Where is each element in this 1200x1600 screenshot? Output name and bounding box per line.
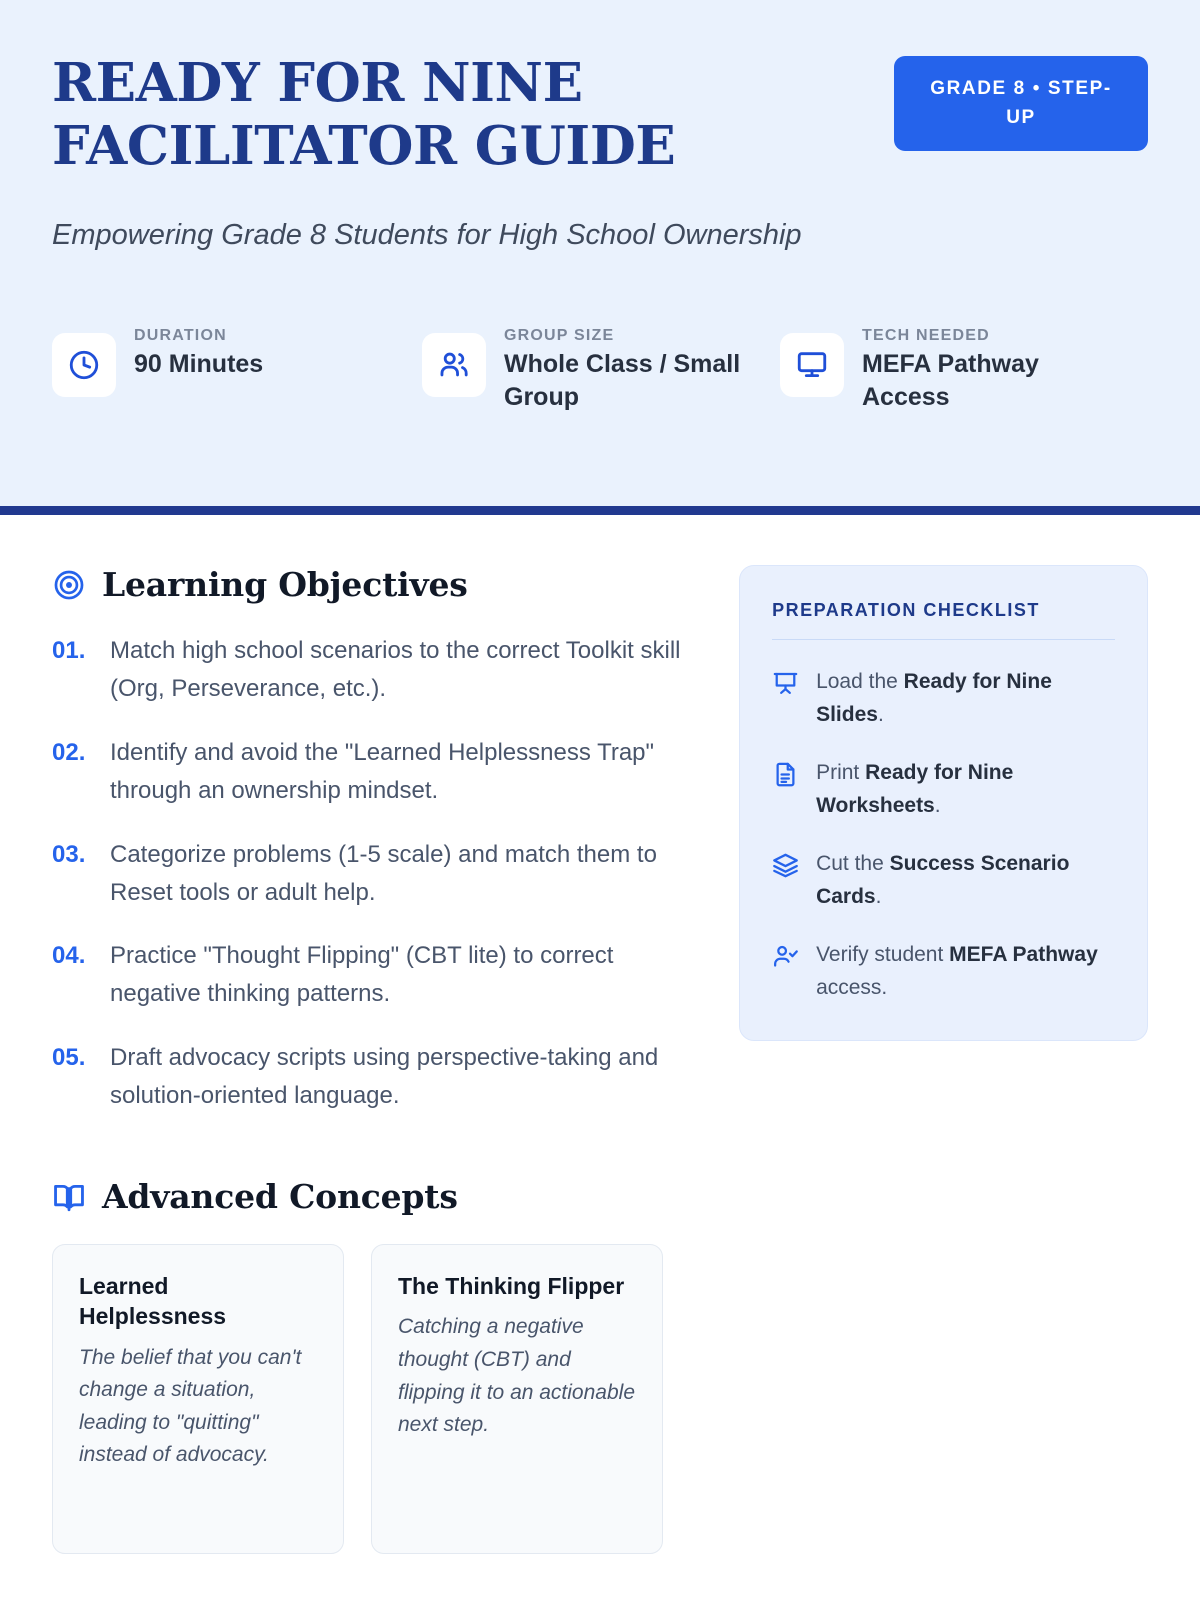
list-item: 05. Draft advocacy scripts using perspec… <box>52 1039 707 1115</box>
meta-label: TECH NEEDED <box>862 327 1110 345</box>
list-item: 02. Identify and avoid the "Learned Help… <box>52 734 707 810</box>
checklist-item-text: Load the Ready for Nine Slides. <box>816 666 1115 731</box>
page-subtitle: Empowering Grade 8 Students for High Sch… <box>52 213 812 257</box>
meta-row: DURATION 90 Minutes GROUP SIZE Whole Cla… <box>52 319 1148 413</box>
learning-objectives-header: Learning Objectives <box>52 565 707 604</box>
page-body: Learning Objectives 01. Match high schoo… <box>0 515 1200 1554</box>
checklist-item-text: Cut the Success Scenario Cards. <box>816 848 1115 913</box>
advanced-concepts-section: Advanced Concepts Learned Helplessness T… <box>52 1177 707 1554</box>
objective-number: 02. <box>52 734 96 810</box>
objectives-list: 01. Match high school scenarios to the c… <box>52 632 707 1115</box>
objective-text: Practice "Thought Flipping" (CBT lite) t… <box>110 937 707 1013</box>
checklist-item-text: Print Ready for Nine Worksheets. <box>816 757 1115 822</box>
layers-icon <box>772 852 800 879</box>
objective-number: 01. <box>52 632 96 708</box>
header-top-row: READY FOR NINE FACILITATOR GUIDE GRADE 8… <box>52 52 1148 177</box>
concept-card: Learned Helplessness The belief that you… <box>52 1244 344 1554</box>
page-header: READY FOR NINE FACILITATOR GUIDE GRADE 8… <box>0 0 1200 515</box>
section-title: Advanced Concepts <box>102 1177 458 1216</box>
advanced-concepts-header: Advanced Concepts <box>52 1177 707 1216</box>
meta-label: GROUP SIZE <box>504 327 780 345</box>
meta-value: MEFA Pathway Access <box>862 348 1110 413</box>
target-icon <box>52 568 86 602</box>
presentation-icon <box>772 670 800 697</box>
grade-level-badge: GRADE 8 • STEP-UP <box>894 56 1148 151</box>
list-item: Load the Ready for Nine Slides. <box>772 666 1115 731</box>
objective-text: Match high school scenarios to the corre… <box>110 632 707 708</box>
objective-number: 05. <box>52 1039 96 1115</box>
concept-card: The Thinking Flipper Catching a negative… <box>371 1244 663 1554</box>
list-item: Cut the Success Scenario Cards. <box>772 848 1115 913</box>
meta-value: Whole Class / Small Group <box>504 348 780 413</box>
meta-item-duration: DURATION 90 Minutes <box>52 319 422 413</box>
file-text-icon <box>772 761 800 788</box>
header-divider-bar <box>0 506 1200 515</box>
objective-text: Identify and avoid the "Learned Helpless… <box>110 734 707 810</box>
meta-text-tech-needed: TECH NEEDED MEFA Pathway Access <box>862 319 1110 413</box>
concept-card-description: Catching a negative thought (CBT) and fl… <box>398 1311 636 1441</box>
meta-text-duration: DURATION 90 Minutes <box>134 319 263 381</box>
concept-card-description: The belief that you can't change a situa… <box>79 1342 317 1472</box>
objective-text: Draft advocacy scripts using perspective… <box>110 1039 707 1115</box>
meta-text-group-size: GROUP SIZE Whole Class / Small Group <box>504 319 780 413</box>
monitor-icon <box>780 333 844 397</box>
concept-card-title: Learned Helplessness <box>79 1271 317 1332</box>
preparation-checklist-panel: PREPARATION CHECKLIST Load the Ready for… <box>739 565 1148 1041</box>
objective-number: 04. <box>52 937 96 1013</box>
user-check-icon <box>772 943 800 970</box>
right-column: PREPARATION CHECKLIST Load the Ready for… <box>739 565 1148 1554</box>
facilitator-guide-page: READY FOR NINE FACILITATOR GUIDE GRADE 8… <box>0 0 1200 1600</box>
checklist-item-text: Verify student MEFA Pathway access. <box>816 939 1115 1004</box>
list-item: 04. Practice "Thought Flipping" (CBT lit… <box>52 937 707 1013</box>
page-title: READY FOR NINE FACILITATOR GUIDE <box>52 52 772 177</box>
objective-number: 03. <box>52 836 96 912</box>
checklist-title: PREPARATION CHECKLIST <box>772 600 1115 640</box>
concept-card-row: Learned Helplessness The belief that you… <box>52 1244 707 1554</box>
list-item: Verify student MEFA Pathway access. <box>772 939 1115 1004</box>
meta-label: DURATION <box>134 327 263 345</box>
clock-icon <box>52 333 116 397</box>
users-icon <box>422 333 486 397</box>
list-item: 01. Match high school scenarios to the c… <box>52 632 707 708</box>
meta-value: 90 Minutes <box>134 348 263 381</box>
meta-item-group-size: GROUP SIZE Whole Class / Small Group <box>422 319 780 413</box>
meta-item-tech-needed: TECH NEEDED MEFA Pathway Access <box>780 319 1110 413</box>
left-column: Learning Objectives 01. Match high schoo… <box>52 565 707 1554</box>
book-open-icon <box>52 1180 86 1214</box>
list-item: 03. Categorize problems (1-5 scale) and … <box>52 836 707 912</box>
list-item: Print Ready for Nine Worksheets. <box>772 757 1115 822</box>
objective-text: Categorize problems (1-5 scale) and matc… <box>110 836 707 912</box>
section-title: Learning Objectives <box>102 565 468 604</box>
concept-card-title: The Thinking Flipper <box>398 1271 636 1301</box>
